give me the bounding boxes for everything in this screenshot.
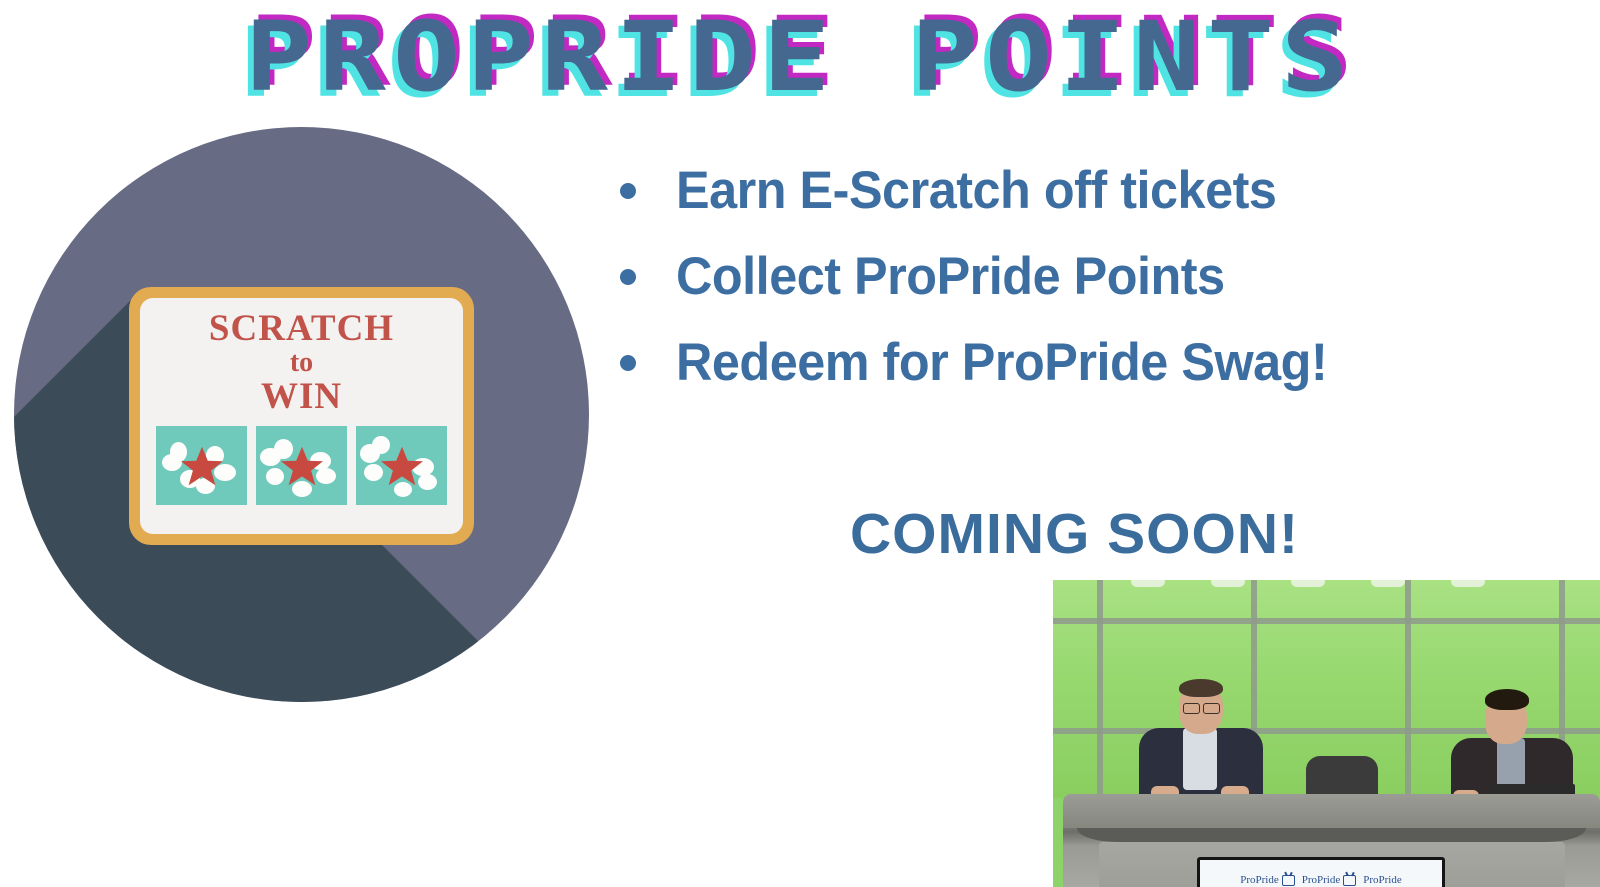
desk-monitor-screen: ProPride ProPride ProPride — [1200, 860, 1442, 887]
list-item: Collect ProPride Points — [620, 244, 1580, 310]
presenter-left-shirt — [1183, 728, 1217, 790]
slide-canvas: PROPRIDE POINTS PROPRIDE POINTS PROPRIDE… — [0, 0, 1600, 887]
bullet-dot-icon — [620, 183, 636, 199]
monitor-logo: ProPride — [1302, 874, 1357, 886]
presenter-left — [1131, 674, 1271, 804]
scratch-star-icon — [180, 445, 224, 487]
news-desk: ProPride ProPride ProPride — [1063, 794, 1600, 887]
scratch-panel[interactable] — [256, 426, 347, 505]
bullet-list: Earn E-Scratch off tickets Collect ProPr… — [620, 158, 1580, 416]
desk-lip — [1077, 828, 1586, 842]
monitor-logo-label: ProPride — [1363, 874, 1402, 886]
bullet-dot-icon — [620, 269, 636, 285]
presenter-right-hair — [1485, 689, 1529, 710]
bullet-label: Collect ProPride Points — [676, 244, 1225, 310]
scratch-ticket-body: SCRATCH to WIN — [140, 298, 463, 534]
monitor-logo: ProPride — [1240, 874, 1295, 886]
presenter-left-hair — [1179, 679, 1223, 697]
bullet-dot-icon — [620, 355, 636, 371]
presenter-right-shirt — [1497, 738, 1525, 790]
scratch-ticket-illustration: SCRATCH to WIN — [14, 127, 589, 702]
ticket-line-win: WIN — [261, 378, 342, 415]
ticket-line-scratch: SCRATCH — [209, 310, 394, 347]
bullet-label: Redeem for ProPride Swag! — [676, 330, 1327, 396]
title-main-layer: PROPRIDE POINTS — [0, 0, 1600, 118]
icon-circle-background: SCRATCH to WIN — [14, 127, 589, 702]
video-inset[interactable]: ProPride ProPride ProPride — [1053, 580, 1600, 887]
scratch-star-icon — [380, 445, 424, 487]
desk-top-surface — [1063, 794, 1600, 828]
tv-icon — [1343, 875, 1356, 886]
monitor-logo-label: ProPride — [1302, 874, 1341, 886]
desk-monitor: ProPride ProPride ProPride — [1197, 857, 1445, 887]
monitor-logo-label: ProPride — [1240, 874, 1279, 886]
monitor-logo: ProPride — [1363, 874, 1402, 886]
scratch-ticket-card: SCRATCH to WIN — [129, 287, 474, 545]
scratch-panel[interactable] — [356, 426, 447, 505]
presenter-left-glasses — [1203, 703, 1220, 714]
ticket-line-to: to — [290, 349, 313, 377]
slide-title: PROPRIDE POINTS PROPRIDE POINTS PROPRIDE… — [0, 0, 1600, 118]
scratch-star-icon — [280, 445, 324, 487]
list-item: Redeem for ProPride Swag! — [620, 330, 1580, 396]
coming-soon-callout: COMING SOON! — [850, 500, 1299, 568]
list-item: Earn E-Scratch off tickets — [620, 158, 1580, 224]
presenter-left-glasses — [1183, 703, 1200, 714]
scratch-panel[interactable] — [156, 426, 247, 505]
bullet-label: Earn E-Scratch off tickets — [676, 158, 1276, 224]
tv-icon — [1282, 875, 1295, 886]
scratch-panel-row — [154, 426, 449, 505]
